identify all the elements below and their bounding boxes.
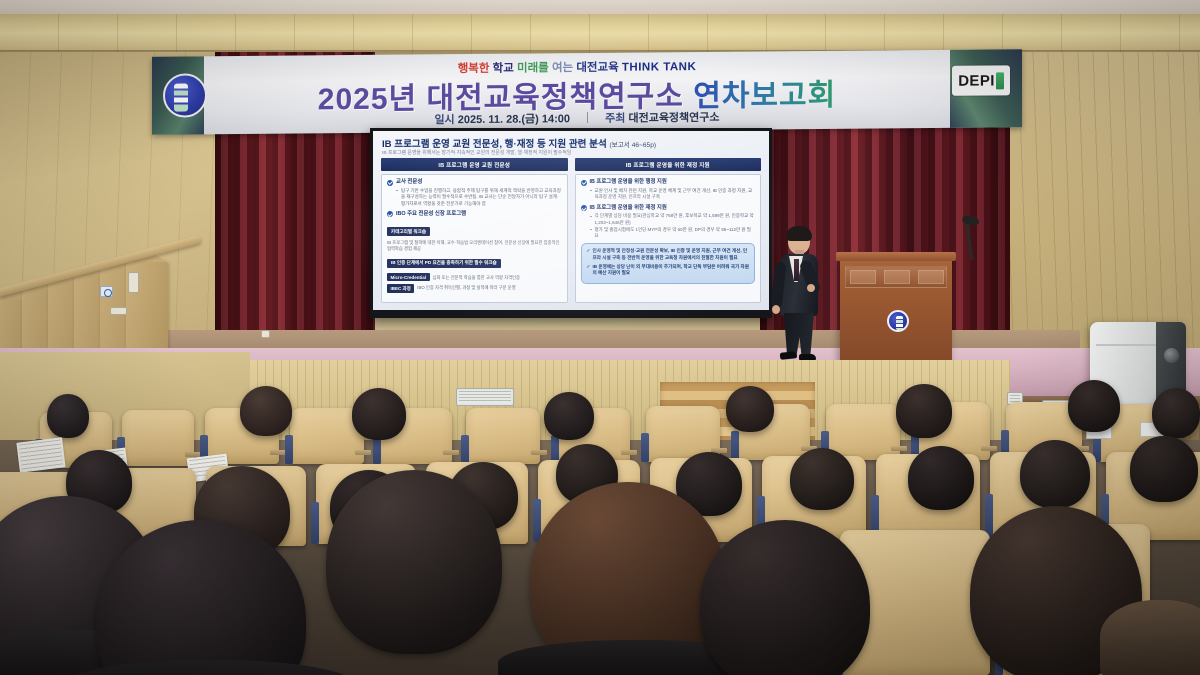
presentation-slide: IB 프로그램 운영 교원 전문성, 행·재정 등 지원 관련 분석 (보고서 …	[373, 131, 769, 310]
check-circle-icon	[387, 180, 393, 186]
right-bullet-2-details: 각 단계별 상당 비용 필요(관심학교 약 768만 원, 후보학교 약 1,5…	[590, 213, 756, 239]
presenter-left-hand	[772, 305, 780, 314]
right-bullet-2-detail-1: 각 단계별 상당 비용 필요(관심학교 약 768만 원, 후보학교 약 1,5…	[590, 213, 756, 226]
wall-outlet[interactable]	[261, 330, 270, 338]
upper-wood-wall	[0, 14, 1200, 54]
presenter-right-hand	[807, 284, 815, 292]
slide-title: IB 프로그램 운영 교원 전문성, 행·재정 등 지원 관련 분석 (보고서 …	[382, 136, 761, 150]
slide-panels: IB 프로그램 운영 교원 전문성 교사 전문성 탐구 기반 수업을 진행하고,…	[381, 158, 761, 303]
banner-date-value: 2025. 11. 28.(금) 14:00	[458, 113, 570, 126]
audience-head	[896, 384, 952, 438]
left-bullet-2-label: IBO 주요 전문성 신장 프로그램	[396, 211, 466, 218]
left-chip-1: 카테고리별 워크숍	[387, 227, 430, 237]
audience-head	[790, 448, 854, 510]
podium	[840, 258, 952, 366]
left-chip-2: IB 인증 단계에서 PD 요건을 충족하기 위한 필수 워크숍	[387, 259, 501, 269]
wall-vent	[456, 388, 514, 406]
left-chip-4-row: IBEC 과정 IBO 인증 자격 취득인별, 과정 및 실적에 따라 구분 운…	[387, 284, 562, 293]
wall-control-box[interactable]	[128, 272, 139, 293]
event-banner: DEPI 행복한 학교 미래를 여는 대전교육 THINK TANK 2025년…	[152, 49, 1022, 135]
left-bullet-1-detail: 탐구 기반 수업을 진행하고, 융합적 주제 탐구를 위해 세계적 맥락을 반영…	[396, 188, 562, 207]
left-chip-3: Micro-Credential	[387, 273, 430, 281]
left-bullet-2: IBO 주요 전문성 신장 프로그램	[387, 211, 562, 218]
conference-hall-scene: DEPI 행복한 학교 미래를 여는 대전교육 THINK TANK 2025년…	[0, 0, 1200, 675]
accessibility-sign-icon	[100, 286, 113, 297]
handout-paper	[16, 437, 65, 472]
right-bullet-2-detail-2: 평가 및 졸업시험에도 1인당 MYP의 경우 약 60만 원, DP의 경우 …	[590, 227, 756, 240]
left-chip-4-desc: IBO 인증 자격 취득인별, 과정 및 실적에 따라 구분 운영	[417, 284, 515, 291]
slide-title-page-ref: (보고서 46~65p)	[609, 142, 656, 149]
cart-knob[interactable]	[1164, 348, 1179, 363]
presenter-shoe-left	[780, 351, 798, 360]
callout-line-1: 인사 운영적 및 안정성-교원 전문성 확보, IB 인증 및 운영 지원, 근…	[587, 248, 750, 261]
left-bullet-1: 교사 전문성	[387, 179, 562, 186]
audience-head	[1020, 440, 1090, 508]
left-bullet-1-details: 탐구 기반 수업을 진행하고, 융합적 주제 탐구를 위해 세계적 맥락을 반영…	[396, 188, 562, 207]
seat[interactable]	[466, 408, 540, 464]
right-panel-callout: 인사 운영적 및 안정성-교원 전문성 확보, IB 인증 및 운영 지원, 근…	[581, 243, 756, 284]
podium-emblem-icon	[887, 310, 909, 332]
audience-head	[908, 446, 974, 510]
audience-head	[1068, 380, 1120, 432]
presenter	[772, 228, 824, 363]
left-panel-header: IB 프로그램 운영 교원 전문성	[381, 158, 568, 171]
left-chip-3-row: Micro-Credential 심화 또는 전문적 학습을 통한 교사 역량 …	[387, 273, 562, 281]
audience-shoulders	[1100, 600, 1200, 675]
seat[interactable]	[122, 410, 194, 466]
audience-head	[47, 394, 89, 438]
right-bullet-1-label: IB 프로그램 운영을 위한 행정 지원	[590, 179, 667, 186]
left-chip-3-desc: 심화 또는 전문적 학습을 통한 교사 역량 자격인증	[433, 273, 520, 280]
audience-head	[1130, 436, 1198, 502]
left-bullet-1-label: 교사 전문성	[396, 179, 422, 186]
banner-host-label: 주최	[605, 113, 625, 125]
wall-name-plate	[110, 307, 127, 315]
right-bullet-1: IB 프로그램 운영을 위한 행정 지원	[581, 179, 756, 186]
left-chip-4: IBEC 과정	[387, 284, 414, 293]
presenter-hair	[786, 226, 812, 241]
right-panel-header: IB 프로그램 운영을 위한 재정 지원	[575, 158, 762, 171]
presenter-legs	[784, 313, 814, 355]
audience-head	[240, 386, 292, 436]
audience-head	[1152, 388, 1200, 438]
right-bullet-1-details: 교원 인사 및 배치 관련 지원, 학교 운영 체계 및 근무 여건 개선, I…	[590, 188, 756, 201]
right-bullet-1-detail: 교원 인사 및 배치 관련 지원, 학교 운영 체계 및 근무 여건 개선, I…	[590, 188, 756, 201]
right-bullet-2: IB 프로그램 운영을 위한 재정 지원	[581, 205, 756, 212]
slide-right-panel: IB 프로그램 운영을 위한 재정 지원 IB 프로그램 운영을 위한 행정 지…	[575, 158, 762, 303]
check-circle-icon	[387, 211, 393, 217]
projection-screen: IB 프로그램 운영 교원 전문성, 행·재정 등 지원 관련 분석 (보고서 …	[370, 128, 772, 318]
education-office-emblem-icon	[163, 73, 207, 117]
right-panel-body: IB 프로그램 운영을 위한 행정 지원 교원 인사 및 배치 관련 지원, 학…	[575, 174, 762, 303]
check-circle-icon	[581, 180, 587, 186]
left-panel-body: 교사 전문성 탐구 기반 수업을 진행하고, 융합적 주제 탐구를 위해 세계적…	[381, 174, 568, 303]
callout-line-2: IB 운영에는 상당 난이 외 부대비용이 추가되며, 학교 단독 부담은 어려…	[587, 264, 750, 277]
banner-date-label: 일시	[434, 114, 454, 126]
presenter-tie	[794, 259, 799, 281]
audience-head	[352, 388, 406, 440]
slide-subtitle: IB 프로그램 운영을 위해서는 장기적·지속적인 교원의 전문성 개발, 행·…	[382, 149, 761, 156]
depi-logo-icon: DEPI	[952, 65, 1010, 96]
depi-logo-text: DEPI	[958, 72, 995, 89]
banner-host-value: 대전교육정책연구소	[628, 112, 719, 125]
check-circle-icon	[581, 205, 587, 211]
right-bullet-2-label: IB 프로그램 운영을 위한 재정 지원	[590, 205, 667, 212]
audience-head	[726, 386, 774, 432]
podium-top-surface	[836, 252, 956, 261]
audience-head	[544, 392, 594, 440]
audience-head	[326, 470, 502, 654]
slide-left-panel: IB 프로그램 운영 교원 전문성 교사 전문성 탐구 기반 수업을 진행하고,…	[381, 158, 568, 303]
left-chip-1-desc: IB 프로그램 및 철학에 대한 이해, 교수·학습법 오리엔테이션 참여, 전…	[387, 239, 562, 252]
podium-upper-band	[845, 266, 947, 288]
